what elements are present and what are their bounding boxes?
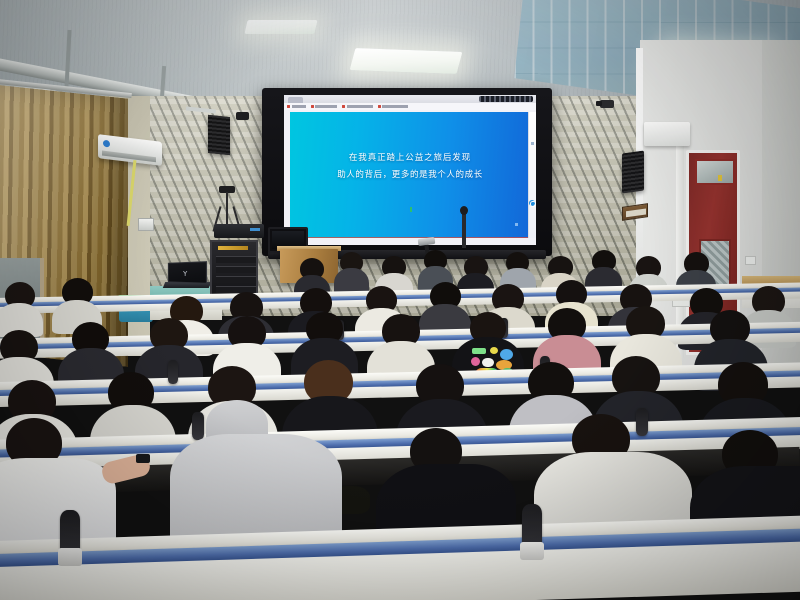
browser-titlebar: [284, 95, 536, 103]
page-sidebar: [528, 112, 536, 238]
slide-corner-mark: [515, 223, 518, 226]
seat-handle[interactable]: [192, 412, 204, 440]
door-sticker: [718, 175, 722, 181]
user-circle-icon[interactable]: [529, 200, 535, 206]
browser-tab[interactable]: [288, 97, 303, 103]
bookmark-label: [382, 105, 408, 108]
seat-handle[interactable]: [636, 408, 648, 436]
ac-badge-icon: [103, 140, 110, 148]
slide-line-2: 助人的背后，更多的是我个人的成长: [290, 167, 530, 184]
graphic-shape: [482, 358, 494, 367]
favicon-icon: [378, 105, 381, 108]
lecture-hall-photo: 在我真正踏上公益之旅后发现 助人的背后，更多的是我个人的成长 Y: [0, 0, 800, 600]
wall-speaker-icon: [622, 150, 644, 193]
presentation-slide: 在我真正踏上公益之旅后发现 助人的背后，更多的是我个人的成长: [290, 112, 530, 238]
bookmark-label: [315, 105, 337, 108]
slide-cursor-marker: [410, 207, 412, 212]
graphic-shape: [490, 347, 498, 354]
bookmark-label: [292, 105, 306, 108]
ceiling-panel-light: [244, 20, 317, 34]
bookmark-label: [347, 105, 373, 108]
favicon-icon: [342, 105, 345, 108]
display-screen: 在我真正踏上公益之旅后发现 助人的背后，更多的是我个人的成长: [284, 95, 536, 245]
slide-text-block: 在我真正踏上公益之旅后发现 助人的背后，更多的是我个人的成长: [290, 150, 530, 184]
presenter-laptop[interactable]: Y: [164, 262, 208, 288]
tripod-column: [226, 192, 228, 226]
graphic-shape: [471, 357, 480, 366]
slide-bottom-accent: [290, 237, 530, 239]
security-camera-icon: [600, 100, 614, 108]
rack-amber-strip: [218, 246, 248, 250]
microphone-icon: [462, 212, 466, 248]
door-transom-glass: [695, 159, 735, 185]
graphic-shape: [500, 349, 513, 360]
favicon-icon: [287, 105, 290, 108]
phone-device: [136, 454, 150, 463]
laptop-logo: Y: [183, 270, 187, 278]
seat-handle-cap: [58, 548, 82, 566]
sidebar-tick: [531, 142, 534, 145]
slide-line-1: 在我真正踏上公益之旅后发现: [290, 150, 530, 167]
rack-unit: [216, 276, 256, 283]
laptop-screen: Y: [168, 261, 207, 284]
lecture-camera-icon: [236, 112, 249, 120]
bookmark-item[interactable]: [342, 105, 373, 108]
seat-handle[interactable]: [168, 360, 178, 384]
seat-handle-cap: [520, 542, 544, 560]
rack-unit: [216, 266, 256, 273]
favicon-icon: [311, 105, 314, 108]
browser-bookmarks-bar[interactable]: [284, 103, 536, 110]
air-purifier-unit: [644, 122, 690, 146]
bookmark-item[interactable]: [378, 105, 409, 108]
wall-speaker-icon: [208, 115, 230, 155]
wall-control-unit: [138, 218, 154, 231]
av-switcher: [214, 224, 264, 238]
bookmark-item[interactable]: [311, 105, 338, 108]
power-outlet: [745, 256, 756, 265]
rack-unit: [216, 256, 256, 263]
browser-toolbar-widget[interactable]: [479, 96, 533, 102]
graphic-shape: [472, 348, 486, 354]
ceiling-panel-light: [350, 48, 463, 74]
bookmark-item[interactable]: [287, 105, 306, 108]
